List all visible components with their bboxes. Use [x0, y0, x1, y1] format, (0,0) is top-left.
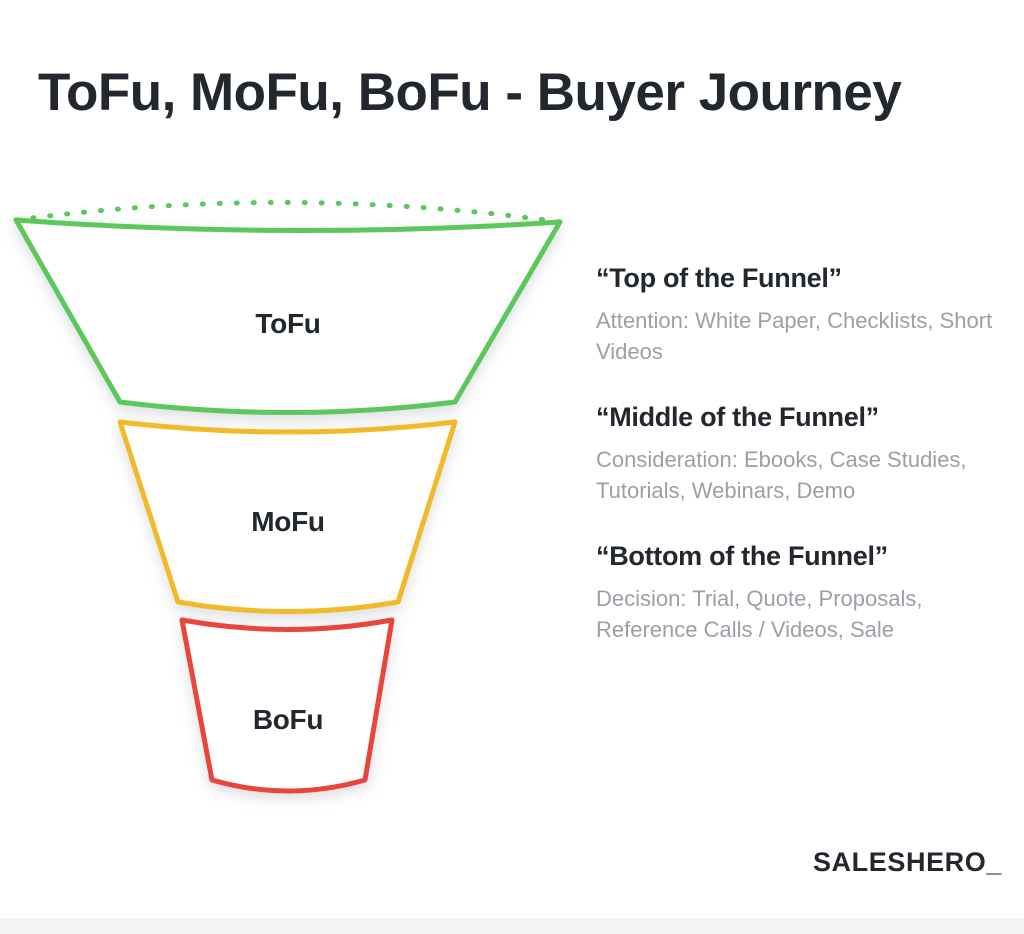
- funnel-stage-label-bofu: BoFu: [158, 704, 418, 736]
- detail-block-mofu: “Middle of the Funnel” Consideration: Eb…: [596, 401, 1008, 506]
- bottom-strip: [0, 918, 1024, 934]
- funnel-diagram: ToFu MoFu BoFu: [0, 180, 580, 830]
- funnel-stage-descriptions: “Top of the Funnel” Attention: White Pap…: [596, 262, 1008, 646]
- detail-heading-tofu: “Top of the Funnel”: [596, 262, 1008, 296]
- funnel-top-dotted-arc: [16, 202, 560, 222]
- page-title: ToFu, MoFu, BoFu - Buyer Journey: [38, 62, 998, 125]
- detail-heading-bofu: “Bottom of the Funnel”: [596, 540, 1008, 574]
- funnel-stage-label-tofu: ToFu: [158, 308, 418, 340]
- funnel-stage-label-mofu: MoFu: [158, 506, 418, 538]
- detail-body-bofu: Decision: Trial, Quote, Proposals, Refer…: [596, 583, 1008, 645]
- detail-body-tofu: Attention: White Paper, Checklists, Shor…: [596, 305, 1008, 367]
- detail-body-mofu: Consideration: Ebooks, Case Studies, Tut…: [596, 444, 1008, 506]
- funnel-infographic-page: ToFu, MoFu, BoFu - Buyer Journey ToFu Mo…: [0, 0, 1024, 934]
- detail-block-bofu: “Bottom of the Funnel” Decision: Trial, …: [596, 540, 1008, 645]
- detail-heading-mofu: “Middle of the Funnel”: [596, 401, 1008, 435]
- saleshero-logo: SALESHERO_: [813, 847, 1002, 878]
- detail-block-tofu: “Top of the Funnel” Attention: White Pap…: [596, 262, 1008, 367]
